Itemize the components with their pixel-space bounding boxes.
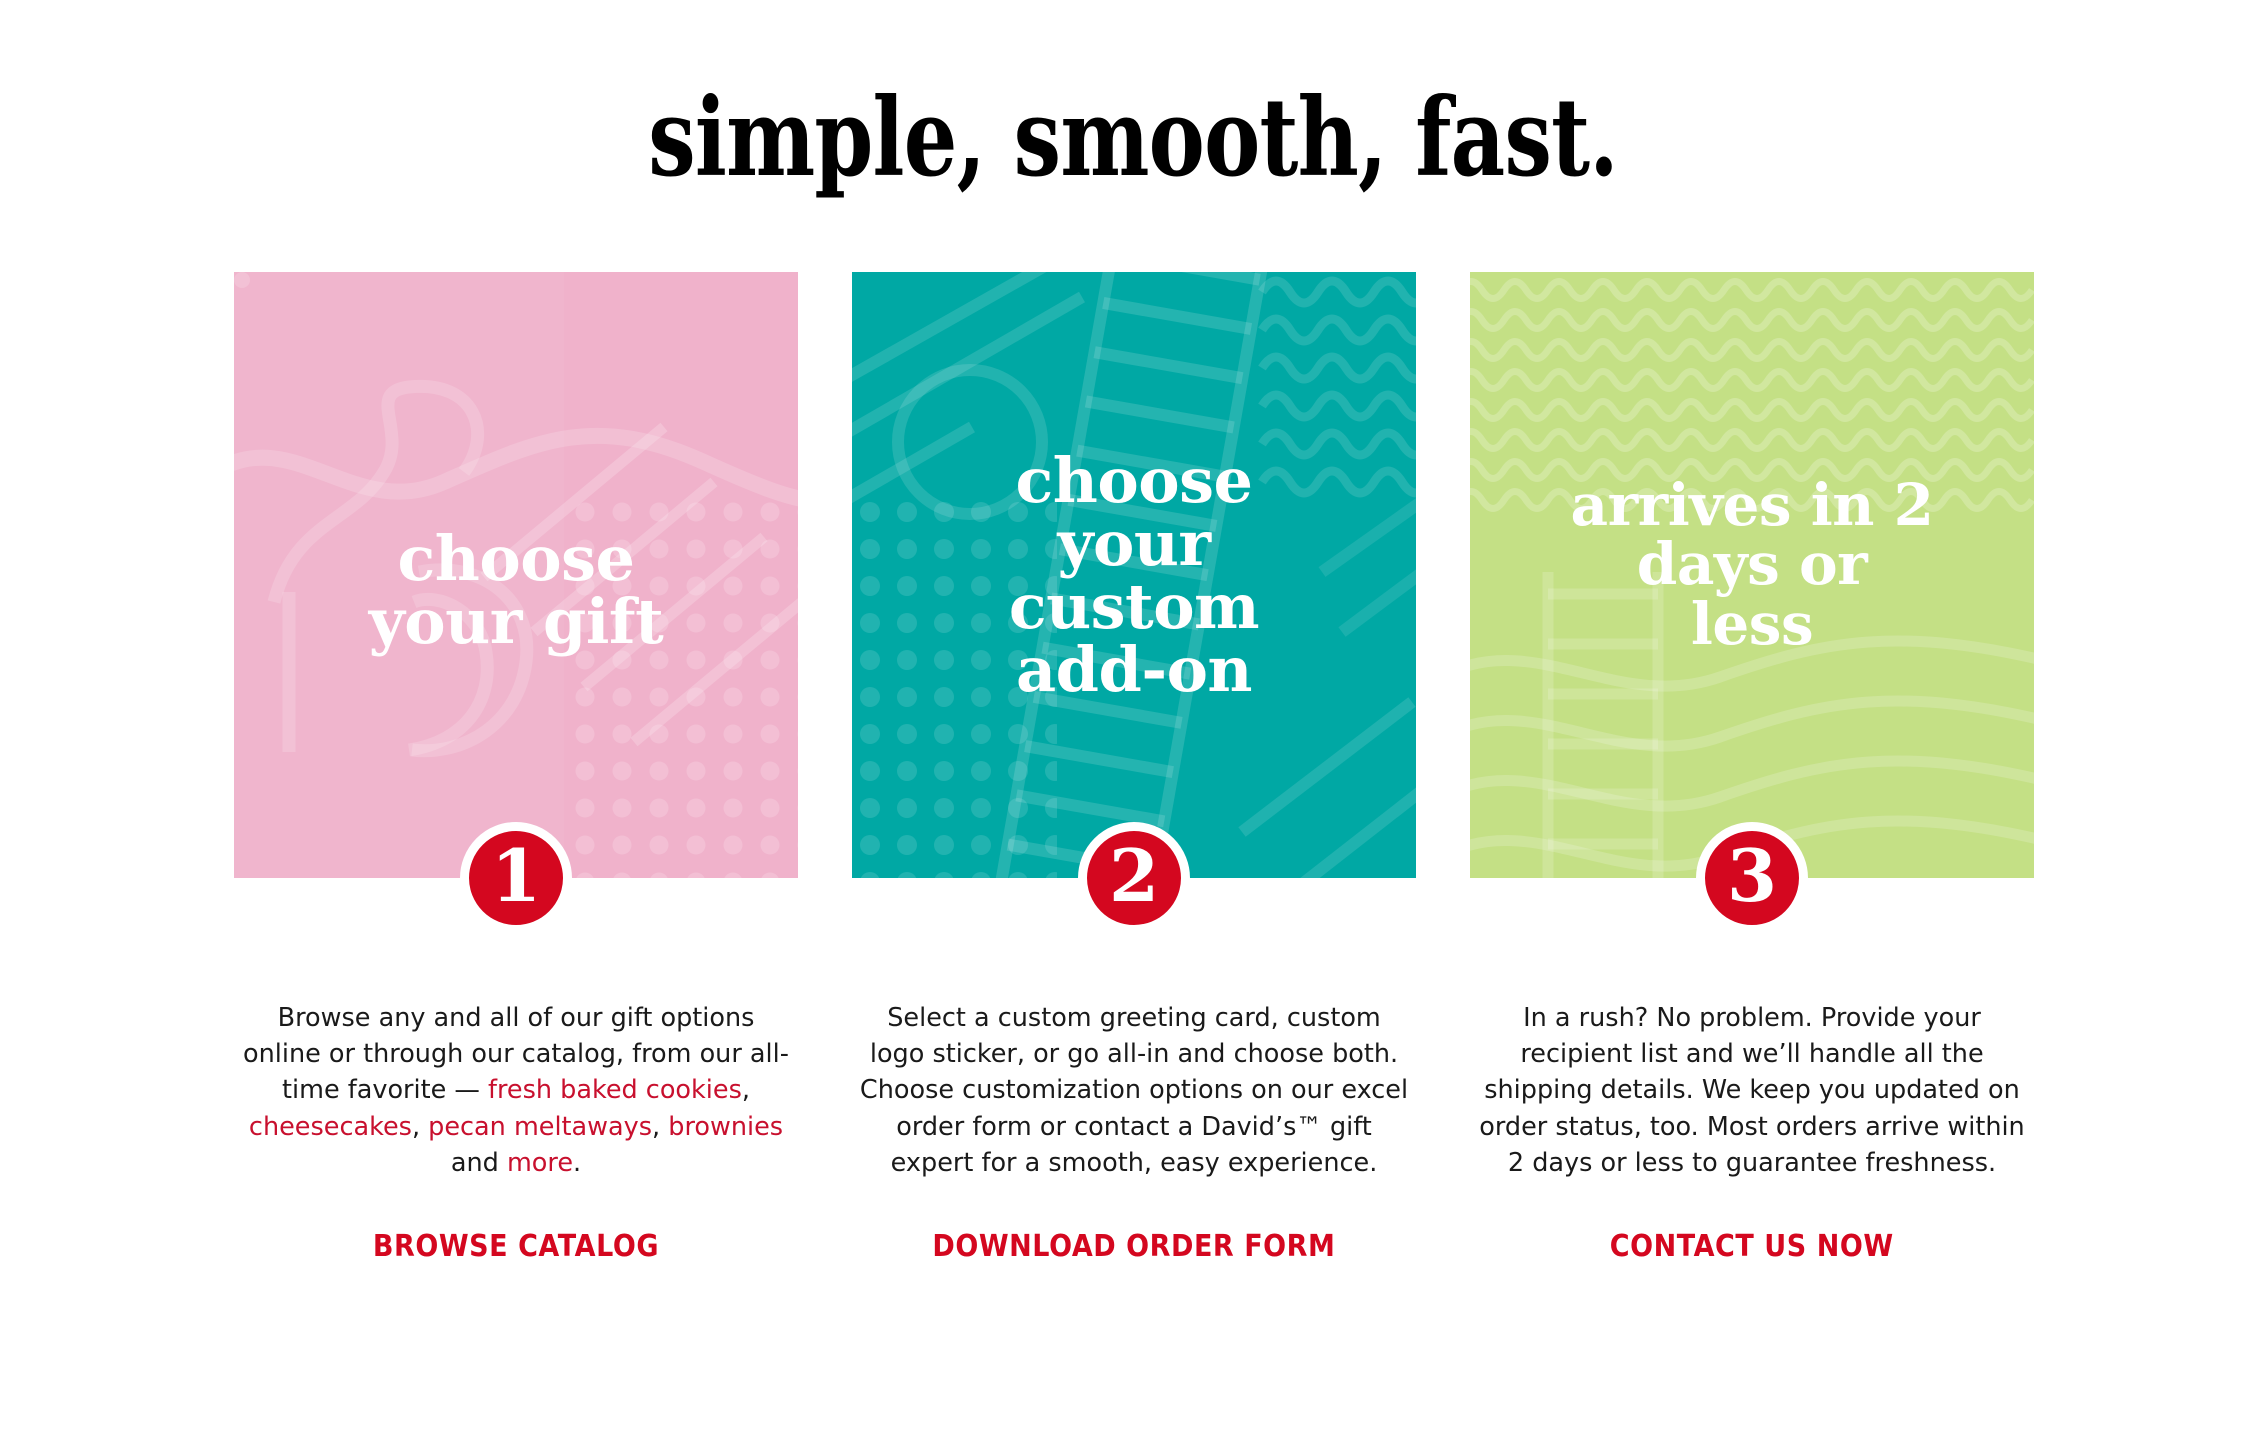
highlighted-link[interactable]: more [507,1148,573,1178]
title-line: add-on [878,638,1390,701]
title-line: your gift [260,590,772,653]
step-column-3: arrives in 2 days or less 3 In a rush? N… [1470,272,2034,1264]
title-line: choose [260,527,772,590]
title-line: days or [1496,535,2008,594]
page-title: simple, smooth, fast. [249,84,2016,192]
step-body-3: In a rush? No problem. Provide your reci… [1470,1000,2034,1181]
title-line: less [1496,595,2008,654]
step-title-3: arrives in 2 days or less [1470,476,2034,653]
step-body-2: Select a custom greeting card, custom lo… [852,1000,1416,1181]
title-line: arrives in 2 [1496,476,2008,535]
download-order-form-link[interactable]: DOWNLOAD ORDER FORM [932,1229,1335,1264]
promo-page: simple, smooth, fast. [0,0,2266,1440]
highlighted-link[interactable]: fresh baked cookies [488,1075,742,1105]
step-badge-2: 2 [1078,822,1190,934]
contact-us-now-link[interactable]: CONTACT US NOW [1610,1229,1894,1264]
step-column-1: choose your gift 1 Browse any and all of… [234,272,798,1264]
browse-catalog-link[interactable]: BROWSE CATALOG [373,1229,659,1264]
step-card-2: choose your custom add-on 2 [852,272,1416,878]
title-line: custom [878,575,1390,638]
step-badge-1: 1 [460,822,572,934]
highlighted-link[interactable]: cheesecakes [249,1112,412,1142]
step-card-3: arrives in 2 days or less 3 [1470,272,2034,878]
steps-row: choose your gift 1 Browse any and all of… [234,272,2032,1264]
step-title-1: choose your gift [234,527,798,653]
title-line: choose [878,449,1390,512]
highlighted-link[interactable]: pecan meltaways [428,1112,652,1142]
step-body-1: Browse any and all of our gift options o… [234,1000,798,1181]
step-title-2: choose your custom add-on [852,449,1416,702]
step-card-1: choose your gift 1 [234,272,798,878]
step-column-2: choose your custom add-on 2 Select a cus… [852,272,1416,1264]
step-badge-3: 3 [1696,822,1808,934]
title-line: your [878,512,1390,575]
highlighted-link[interactable]: brownies [668,1112,783,1142]
